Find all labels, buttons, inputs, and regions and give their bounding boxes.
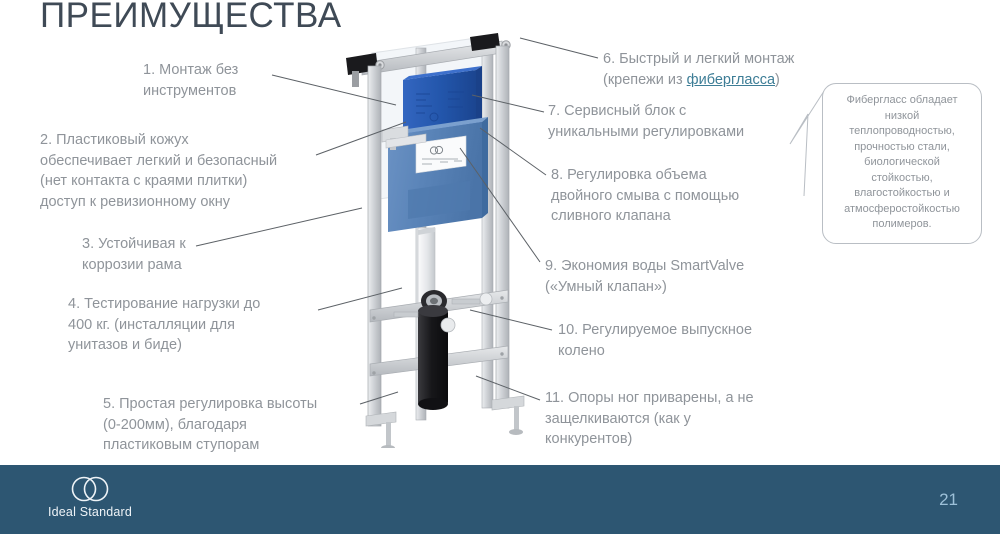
feature-label-10: 10. Регулируемое выпускное колено: [558, 320, 752, 361]
feature-label-1: 1. Монтаж без инструментов: [143, 60, 238, 101]
feature-label-3: 3. Устойчивая к коррозии рама: [82, 234, 186, 275]
fiberglass-link[interactable]: фибергласса: [687, 72, 775, 88]
page-title: ПРЕИМУЩЕСТВА: [40, 0, 342, 36]
slide: ПРЕИМУЩЕСТВА: [0, 0, 1000, 534]
fiberglass-callout: Фибергласс обладает низкой теплопроводно…: [822, 83, 982, 244]
page-number: 21: [939, 490, 958, 510]
feature-label-5: 5. Простая регулировка высоты (0-200мм),…: [103, 394, 317, 456]
product-illustration: [330, 18, 550, 448]
two-interlocking-circles-icon: [62, 475, 118, 503]
brand-name: Ideal Standard: [35, 505, 145, 519]
feature-label-6: 6. Быстрый и легкий монтаж (крепежи из ф…: [603, 49, 794, 90]
feature-label-6-suffix: ): [775, 72, 780, 88]
feature-label-9: 9. Экономия воды SmartValve («Умный клап…: [545, 256, 744, 297]
feature-label-8: 8. Регулировка объема двойного смыва с п…: [551, 165, 739, 227]
footer-bar: Ideal Standard 21: [0, 465, 1000, 534]
feature-label-4: 4. Тестирование нагрузки до 400 кг. (инс…: [68, 294, 260, 356]
feature-label-2: 2. Пластиковый кожух обеспечивает легкий…: [40, 130, 277, 212]
brand-logo: Ideal Standard: [35, 475, 145, 519]
installation-frame-svg: [330, 18, 550, 448]
feature-label-7: 7. Сервисный блок с уникальными регулиро…: [548, 101, 744, 142]
feature-label-11: 11. Опоры ног приварены, а не защелкиваю…: [545, 388, 754, 450]
